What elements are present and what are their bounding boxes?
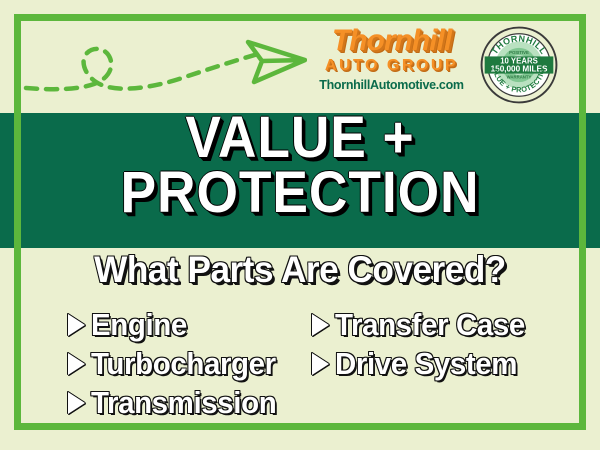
dashed-loop-path-icon xyxy=(22,20,307,105)
part-label: Engine xyxy=(91,309,187,340)
banner-title: VALUE + PROTECTION xyxy=(0,110,600,220)
banner-title-line-2: PROTECTION xyxy=(24,165,576,220)
triangle-bullet-icon xyxy=(312,353,329,375)
list-item: Turbocharger xyxy=(68,344,286,383)
triangle-bullet-icon xyxy=(68,314,85,336)
thornhill-logo[interactable]: Thornhill AUTO GROUP ThornhillAutomotive… xyxy=(314,26,469,92)
triangle-bullet-icon xyxy=(68,392,85,414)
list-item: Transfer Case xyxy=(312,305,535,344)
advertisement-banner: Thornhill AUTO GROUP ThornhillAutomotive… xyxy=(0,0,600,450)
banner-title-line-1: VALUE + xyxy=(24,110,576,165)
header-zone: Thornhill AUTO GROUP ThornhillAutomotive… xyxy=(0,0,600,113)
covered-parts-list: Engine Turbocharger Transmission Transfe… xyxy=(0,305,600,423)
list-item: Engine xyxy=(68,305,286,344)
part-label: Transmission xyxy=(91,387,276,418)
warranty-seal-badge: THORNHILL POSITIVE 10 YEARS 150,000 MILE… xyxy=(480,26,558,104)
covered-parts-right-column: Transfer Case Drive System xyxy=(312,305,535,383)
list-item: Drive System xyxy=(312,344,535,383)
seal-warranty-text: WARRANTY xyxy=(507,74,532,79)
paper-plane-arrow-icon xyxy=(248,42,305,82)
part-label: Turbocharger xyxy=(91,348,276,379)
logo-website-text: ThornhillAutomotive.com xyxy=(314,79,469,92)
list-item: Transmission xyxy=(68,383,286,422)
part-label: Drive System xyxy=(335,348,517,379)
seal-positive-text: POSITIVE xyxy=(509,50,529,55)
coverage-question-heading: What Parts Are Covered? xyxy=(15,251,585,288)
logo-brand-text: Thornhill xyxy=(314,26,469,56)
triangle-bullet-icon xyxy=(68,353,85,375)
part-label: Transfer Case xyxy=(335,309,525,340)
covered-parts-left-column: Engine Turbocharger Transmission xyxy=(68,305,286,422)
logo-subtitle-text: AUTO GROUP xyxy=(314,58,469,74)
triangle-bullet-icon xyxy=(312,314,329,336)
